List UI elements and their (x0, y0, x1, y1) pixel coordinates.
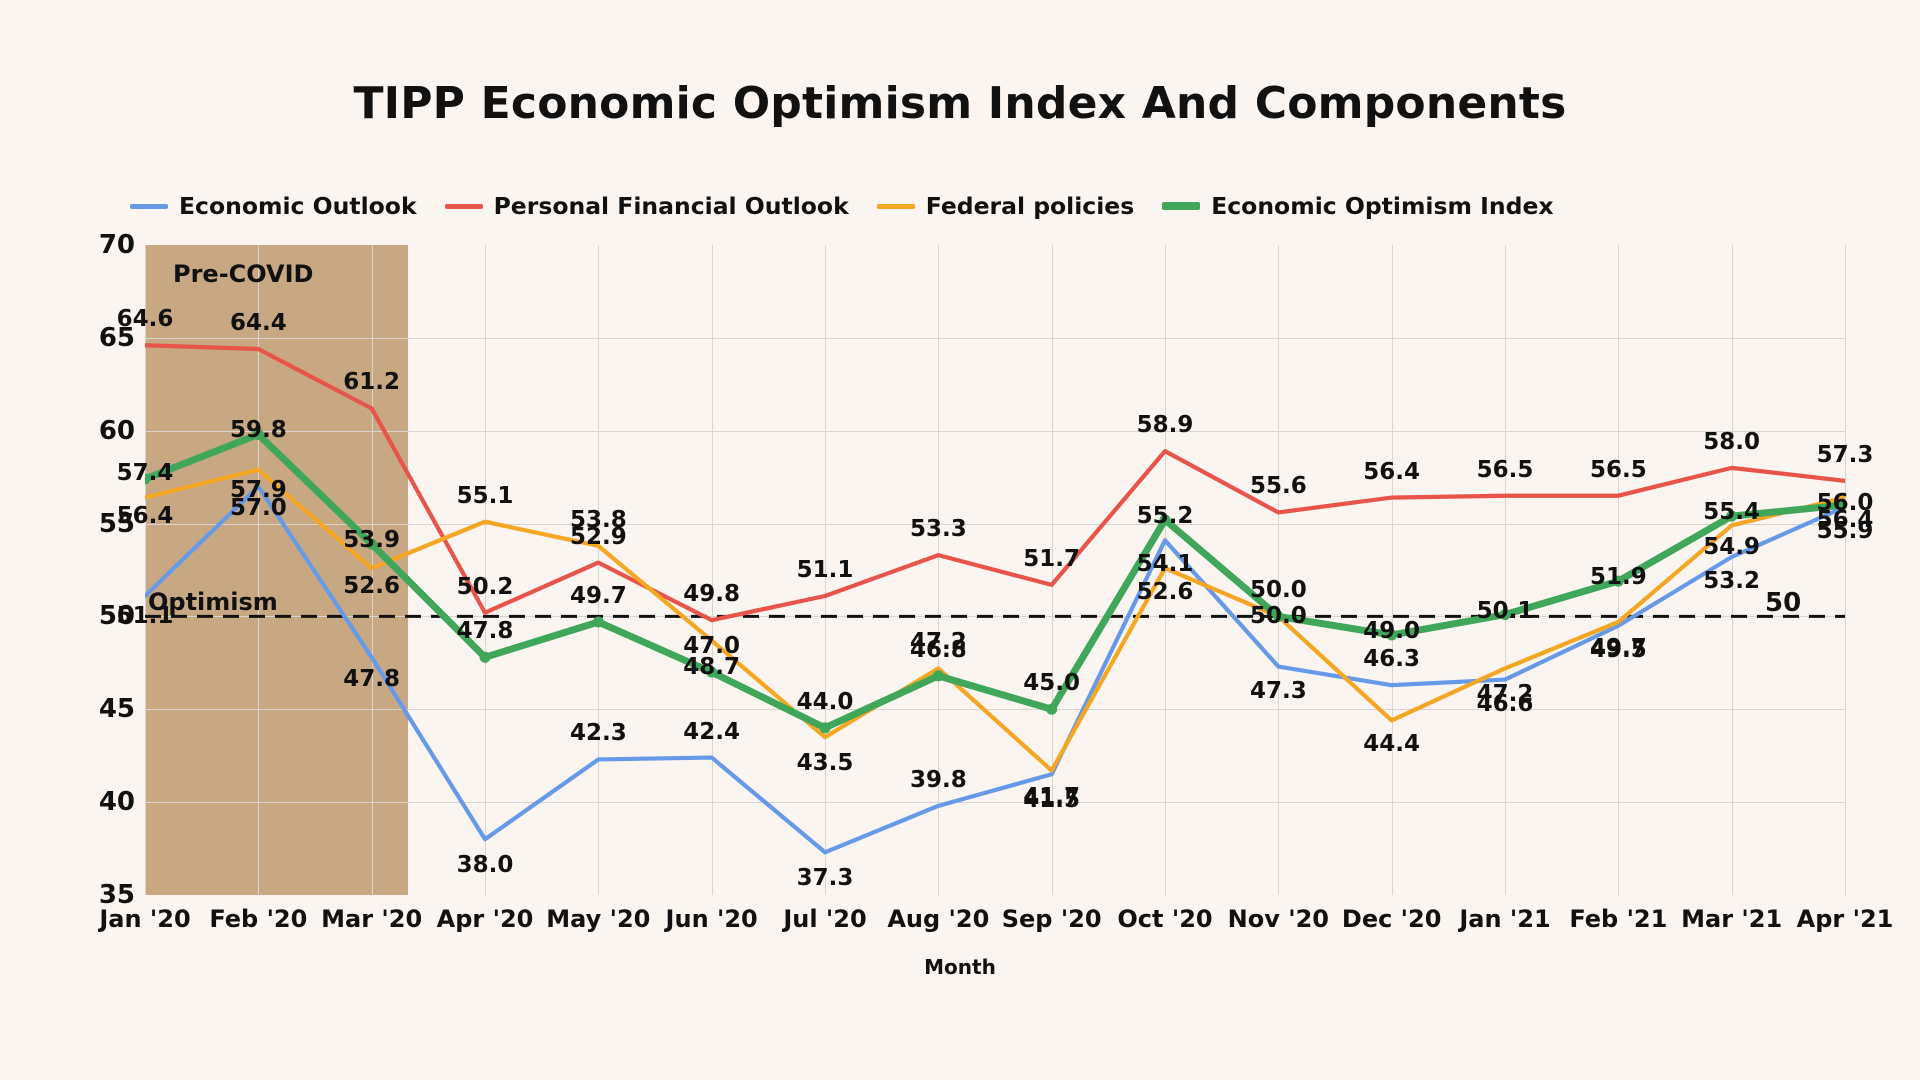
y-axis-tick-label: 70 (99, 230, 135, 260)
y-axis-tick-label: 60 (99, 416, 135, 446)
series-point (253, 429, 264, 440)
series-point (366, 539, 377, 550)
x-axis-tick-label: Feb '20 (209, 905, 307, 933)
legend-item-economic-outlook[interactable]: Economic Outlook (130, 192, 417, 220)
legend-swatch-economic-outlook (130, 204, 168, 209)
gridline-vertical (1845, 245, 1846, 895)
series-lines (145, 245, 1845, 895)
x-axis-tick-label: Jan '20 (99, 905, 190, 933)
y-axis-tick-label: 65 (99, 323, 135, 353)
x-axis-tick-label: Jul '20 (783, 905, 866, 933)
optimism-threshold-value: 50 (1765, 588, 1801, 618)
y-axis-tick-label: 50 (99, 601, 135, 631)
series-point (1500, 609, 1511, 620)
chart-page: TIPP Economic Optimism Index And Compone… (0, 0, 1920, 1080)
x-axis-tick-label: Jun '20 (666, 905, 758, 933)
legend-label-personal-financial-outlook: Personal Financial Outlook (494, 192, 849, 220)
x-axis-title: Month (0, 955, 1920, 979)
x-axis-tick-label: Feb '21 (1569, 905, 1667, 933)
series-point (1046, 704, 1057, 715)
x-axis-tick-label: Jan '21 (1459, 905, 1550, 933)
y-axis-tick-label: 45 (99, 694, 135, 724)
series-point (480, 652, 491, 663)
series-point (1726, 511, 1737, 522)
x-axis-tick-label: Sep '20 (1002, 905, 1102, 933)
chart-legend: Economic Outlook Personal Financial Outl… (130, 192, 1554, 220)
legend-label-economic-outlook: Economic Outlook (179, 192, 417, 220)
legend-item-economic-optimism-index[interactable]: Economic Optimism Index (1162, 192, 1553, 220)
series-point (933, 670, 944, 681)
series-point (1613, 576, 1624, 587)
series-point (593, 617, 604, 628)
series-point (1273, 611, 1284, 622)
series-line (145, 345, 1845, 620)
series-point (820, 722, 831, 733)
legend-swatch-economic-optimism-index (1162, 202, 1200, 210)
x-axis-tick-label: Apr '20 (437, 905, 534, 933)
legend-label-federal-policies: Federal policies (926, 192, 1134, 220)
x-axis-tick-label: Apr '21 (1797, 905, 1894, 933)
series-line (145, 434, 1845, 727)
x-axis-tick-label: Aug '20 (887, 905, 989, 933)
plot-area: Pre-COVID Optimism 50 51.157.047.838.042… (145, 245, 1845, 895)
x-axis-tick-label: Mar '21 (1681, 905, 1782, 933)
legend-swatch-federal-policies (877, 204, 915, 209)
series-line (145, 470, 1845, 771)
page-title: TIPP Economic Optimism Index And Compone… (0, 78, 1920, 129)
precovid-annotation: Pre-COVID (173, 260, 313, 288)
series-point (1160, 514, 1171, 525)
legend-swatch-personal-financial-outlook (445, 204, 483, 209)
y-axis-tick-label: 40 (99, 787, 135, 817)
y-axis-tick-label: 55 (99, 509, 135, 539)
legend-item-personal-financial-outlook[interactable]: Personal Financial Outlook (445, 192, 849, 220)
x-axis-tick-label: Nov '20 (1228, 905, 1329, 933)
legend-label-economic-optimism-index: Economic Optimism Index (1211, 192, 1553, 220)
x-axis-tick-label: May '20 (546, 905, 650, 933)
x-axis-tick-label: Oct '20 (1117, 905, 1212, 933)
y-axis: 3540455055606570 (55, 245, 135, 895)
series-point (706, 667, 717, 678)
x-axis-tick-label: Mar '20 (321, 905, 422, 933)
series-line (145, 486, 1845, 852)
legend-item-federal-policies[interactable]: Federal policies (877, 192, 1134, 220)
series-point (1386, 630, 1397, 641)
optimism-annotation: Optimism (148, 588, 278, 616)
x-axis-tick-label: Dec '20 (1342, 905, 1442, 933)
